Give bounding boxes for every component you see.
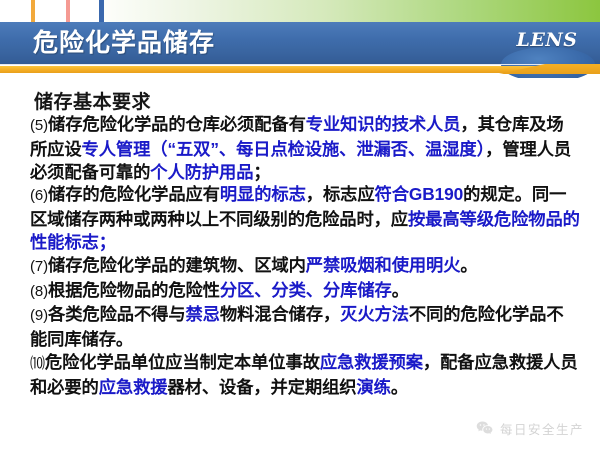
highlighted-text: 专业知识的技术人员 <box>306 114 461 134</box>
strip-tick-orange <box>31 0 35 22</box>
highlighted-text: 明显的标志 <box>220 184 306 204</box>
body-area: 储存基本要求 (5)储存危险化学品的仓库必须配备有专业知识的技术人员，其仓库及场… <box>0 78 600 450</box>
body-text: 。 <box>391 377 408 397</box>
watermark-text: 每日安全生产 <box>500 419 584 438</box>
strip-tick-pink <box>66 0 70 22</box>
accent-hairline <box>0 64 600 65</box>
section-heading: 储存基本要求 <box>34 87 151 114</box>
requirement-item: (6)储存的危险化学品应有明显的标志，标志应符合GB190的规定。同一区域储存两… <box>30 183 580 253</box>
requirements-list: (5)储存危险化学品的仓库必须配备有专业知识的技术人员，其仓库及场所应设专人管理… <box>30 113 580 399</box>
requirement-number: (8) <box>30 283 48 300</box>
slide-root: 危险化学品储存 LENS 储存基本要求 (5)储存危险化学品的仓库必须配备有专业… <box>0 0 600 450</box>
highlighted-text: 禁忌 <box>186 304 220 324</box>
body-text: 各类危险品不得与 <box>48 304 185 324</box>
body-text: ，标志应 <box>306 184 375 204</box>
highlighted-text: 个人防护用品 <box>150 162 253 182</box>
highlighted-text: 应急救援预案 <box>320 352 423 372</box>
accent-bar-group <box>0 64 600 74</box>
highlighted-text: 分区、分类、分库储存 <box>220 280 392 300</box>
watermark: 每日安全生产 <box>475 419 584 438</box>
top-green-gradient <box>102 0 600 22</box>
lens-logo-text: LENS <box>506 29 588 51</box>
strip-tick-blue <box>99 0 104 22</box>
wechat-icon <box>475 419 494 438</box>
body-text: 储存危险化学品的仓库必须配备有 <box>48 114 306 134</box>
requirement-item: (9)各类危险品不得与禁忌物料混合储存，灭火方法不同的危险化学品不能同库储存。 <box>30 303 580 351</box>
body-text: 储存的危险化学品应有 <box>48 184 220 204</box>
requirement-number: (7) <box>30 258 48 275</box>
requirement-item: ⑽危险化学品单位应当制定本单位事故应急救援预案，配备应急救援人员和必要的应急救援… <box>30 351 580 399</box>
body-text: 储存危险化学品的建筑物、区域内 <box>48 255 306 275</box>
body-text: 。 <box>392 280 409 300</box>
highlighted-text: 严禁吸烟和使用明火 <box>306 255 461 275</box>
top-decor-strip <box>0 0 600 22</box>
requirement-number: (6) <box>30 187 48 204</box>
highlighted-text: 应急救援 <box>99 377 168 397</box>
body-text: 器材、设备，并定期组织 <box>167 377 356 397</box>
requirement-number: (9) <box>30 307 48 324</box>
body-text: 。 <box>460 255 477 275</box>
body-text: 物料混合储存， <box>220 304 340 324</box>
requirement-number: ⑽ <box>30 355 45 372</box>
requirement-number: (5) <box>30 117 48 134</box>
highlighted-text: 演练 <box>356 377 390 397</box>
page-title: 危险化学品储存 <box>33 24 215 62</box>
requirement-item: (8)根据危险物品的危险性分区、分类、分库储存。 <box>30 279 580 304</box>
highlighted-text: 符合GB190 <box>375 184 464 204</box>
body-text: 危险化学品单位应当制定本单位事故 <box>45 352 320 372</box>
body-text: 根据危险物品的危险性 <box>48 280 220 300</box>
body-text: ； <box>253 162 270 182</box>
requirement-item: (5)储存危险化学品的仓库必须配备有专业知识的技术人员，其仓库及场所应设专人管理… <box>30 113 580 183</box>
requirement-item: (7)储存危险化学品的建筑物、区域内严禁吸烟和使用明火。 <box>30 254 580 279</box>
highlighted-text: 灭火方法 <box>340 304 409 324</box>
highlighted-text: 专人管理（“五双”、每日点检设施、泄漏否、温湿度） <box>82 139 486 159</box>
